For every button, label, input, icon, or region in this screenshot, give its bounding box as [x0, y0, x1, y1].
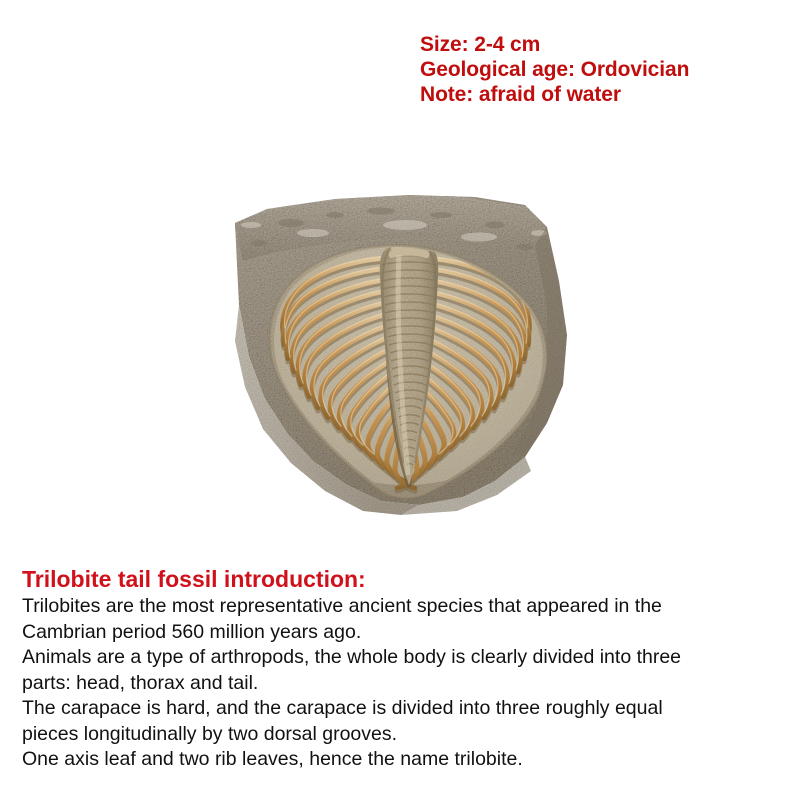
spec-line-geological-age: Geological age: Ordovician [420, 57, 790, 82]
description-line-7: One axis leaf and two rib leaves, hence … [22, 747, 792, 773]
description-heading: Trilobite tail fossil introduction: [22, 565, 792, 593]
description-line-6: pieces longitudinally by two dorsal groo… [22, 722, 792, 748]
description-block: Trilobite tail fossil introduction: Tril… [22, 565, 792, 773]
spec-line-note: Note: afraid of water [420, 82, 790, 107]
spec-line-size: Size: 2-4 cm [420, 32, 790, 57]
specification-block: Size: 2-4 cm Geological age: Ordovician … [420, 32, 790, 107]
description-line-4: parts: head, thorax and tail. [22, 671, 792, 697]
description-line-1: Trilobites are the most representative a… [22, 594, 792, 620]
description-line-5: The carapace is hard, and the carapace i… [22, 696, 792, 722]
fossil-illustration [195, 185, 605, 515]
trilobite-fossil-image [195, 185, 605, 515]
description-line-3: Animals are a type of arthropods, the wh… [22, 645, 792, 671]
description-line-2: Cambrian period 560 million years ago. [22, 620, 792, 646]
